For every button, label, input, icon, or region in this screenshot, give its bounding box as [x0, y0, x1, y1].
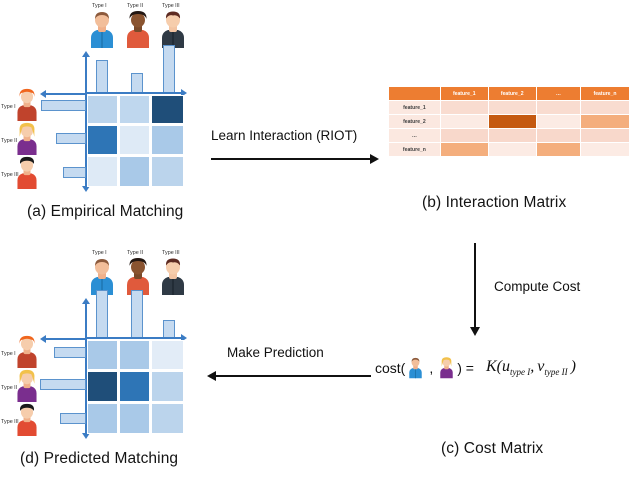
- row-bar-3: [63, 167, 86, 178]
- row-label-type-1: Type I: [1, 104, 16, 110]
- formula-paren-close: ): [571, 358, 576, 375]
- person-icon: [123, 10, 153, 48]
- column-header: …: [537, 87, 580, 100]
- person-icon: [438, 356, 455, 379]
- arrow-head-down-icon: [470, 327, 480, 336]
- table-row: feature_1: [389, 101, 629, 114]
- formula-u-subscript: type I: [510, 367, 530, 377]
- arrow-line: [474, 243, 476, 328]
- formula-avatar-type-2: [438, 356, 455, 379]
- person-icon: [14, 122, 40, 155]
- axis-horizontal-top: [85, 92, 182, 94]
- column-header: feature_2: [489, 87, 536, 100]
- column-avatar-type-1: [87, 10, 117, 48]
- matrix-cell: [151, 125, 184, 155]
- panel-cost-matrix: cost( , ) = K(utype I,vtype II) (c) Cost…: [375, 350, 640, 465]
- matrix-cell: [151, 340, 184, 370]
- matrix-cell: [87, 156, 118, 187]
- column-bar-3: [163, 45, 175, 93]
- table-header-row: feature_1 feature_2 … feature_n: [389, 87, 629, 100]
- matrix-cell: [581, 115, 629, 128]
- corner-cell: [389, 87, 440, 100]
- panel-caption-c: (c) Cost Matrix: [441, 440, 543, 458]
- table-row: feature_2: [389, 115, 629, 128]
- column-label-type-3: Type III: [162, 250, 180, 256]
- cost-formula: cost( , ) = K(utype I,vtype II): [375, 356, 576, 379]
- matrix-cell: [441, 115, 488, 128]
- row-label-type-2: Type II: [1, 138, 17, 144]
- row-bar-3: [60, 413, 86, 424]
- column-label-type-2: Type II: [127, 3, 143, 9]
- matrix-cell: [581, 101, 629, 114]
- matrix-cell: [537, 115, 580, 128]
- matrix-cell: [441, 129, 488, 142]
- row-avatar-type-1: [14, 88, 40, 121]
- row-avatar-type-2: [14, 122, 40, 155]
- matrix-cell: [119, 156, 150, 187]
- interaction-matrix-table: feature_1 feature_2 … feature_n feature_…: [388, 86, 630, 157]
- formula-kernel-symbol: K: [486, 358, 497, 375]
- matrix-cell: [87, 403, 118, 434]
- panel-empirical-matching: Type I Type II Type III: [0, 0, 215, 230]
- row-bar-1: [41, 100, 86, 111]
- formula-u-symbol: u: [502, 358, 510, 375]
- panel-caption-d: (d) Predicted Matching: [20, 450, 178, 468]
- row-bar-2: [40, 379, 86, 390]
- row-label-type-2: Type II: [1, 385, 17, 391]
- column-avatar-type-3: [158, 10, 188, 48]
- matrix-cell: [441, 101, 488, 114]
- arrow-make-prediction: Make Prediction: [203, 345, 388, 385]
- panel-caption-b: (b) Interaction Matrix: [422, 194, 566, 212]
- formula-v-subscript: type II: [544, 367, 567, 377]
- table-row: …: [389, 129, 629, 142]
- column-bar-2: [131, 290, 143, 338]
- column-avatar-type-3: [158, 257, 188, 295]
- row-avatar-type-2: [14, 369, 40, 402]
- axis-arrow-up: [82, 298, 90, 304]
- arrow-line: [216, 375, 371, 377]
- panel-caption-a: (a) Empirical Matching: [27, 203, 183, 221]
- column-label-type-3: Type III: [162, 3, 180, 9]
- matrix-cell: [119, 125, 150, 155]
- row-header: …: [389, 129, 440, 142]
- axis-horizontal-left: [45, 93, 87, 95]
- formula-kernel: K(utype I,vtype II): [486, 358, 576, 377]
- column-header: feature_1: [441, 87, 488, 100]
- matrix-cell: [151, 156, 184, 187]
- arrow-learn-interaction: Learn Interaction (RIOT): [207, 128, 387, 168]
- panel-predicted-matching: Type I Type II Type III: [0, 245, 215, 477]
- person-icon: [407, 356, 424, 379]
- row-header: feature_1: [389, 101, 440, 114]
- column-label-type-1: Type I: [92, 250, 107, 256]
- matrix-cell: [581, 129, 629, 142]
- axis-arrow-left: [40, 90, 46, 98]
- matrix-cell: [87, 95, 118, 124]
- matrix-cell: [151, 95, 184, 124]
- arrow-label-make-prediction: Make Prediction: [227, 345, 324, 360]
- axis-horizontal-left: [45, 338, 87, 340]
- person-icon: [158, 257, 188, 295]
- row-avatar-type-1: [14, 335, 40, 368]
- person-icon: [14, 335, 40, 368]
- axis-vertical-top: [85, 56, 87, 94]
- matrix-cell: [489, 115, 536, 128]
- person-icon: [14, 369, 40, 402]
- axis-arrow-left: [40, 335, 46, 343]
- matrix-cell: [537, 129, 580, 142]
- arrow-head-right-icon: [370, 154, 379, 164]
- axis-horizontal-top: [85, 337, 182, 339]
- table-row: feature_n: [389, 143, 629, 156]
- row-label-type-3: Type III: [1, 172, 19, 178]
- column-bar-1: [96, 60, 108, 93]
- column-bar-3: [163, 320, 175, 338]
- column-label-type-2: Type II: [127, 250, 143, 256]
- column-header: feature_n: [581, 87, 629, 100]
- row-label-type-1: Type I: [1, 351, 16, 357]
- arrow-line: [211, 158, 371, 160]
- matrix-cell: [87, 125, 118, 155]
- matrix-cell: [119, 371, 150, 402]
- arrow-compute-cost: Compute Cost: [468, 243, 618, 343]
- formula-comma: ,: [429, 360, 433, 376]
- person-icon: [87, 10, 117, 48]
- formula-close-equals: ) =: [457, 360, 474, 376]
- column-bar-1: [96, 290, 108, 338]
- formula-avatar-type-1: [407, 356, 424, 379]
- matrix-cell: [537, 143, 580, 156]
- row-label-type-3: Type III: [1, 419, 19, 425]
- axis-vertical-top: [85, 303, 87, 339]
- matrix-cell: [489, 129, 536, 142]
- axis-arrow-up: [82, 51, 90, 57]
- person-icon: [158, 10, 188, 48]
- row-bar-1: [54, 347, 86, 358]
- row-bar-2: [56, 133, 86, 144]
- matrix-cell: [119, 95, 150, 124]
- matrix-cell: [119, 340, 150, 370]
- panel-interaction-matrix: feature_1 feature_2 … feature_n feature_…: [388, 86, 638, 211]
- matrix-cell: [151, 403, 184, 434]
- matrix-cell: [441, 143, 488, 156]
- arrow-label-learn-interaction: Learn Interaction (RIOT): [211, 128, 357, 143]
- column-label-type-1: Type I: [92, 3, 107, 9]
- arrow-label-compute-cost: Compute Cost: [494, 279, 580, 294]
- matrix-cell: [537, 101, 580, 114]
- matrix-cell: [151, 371, 184, 402]
- row-header: feature_n: [389, 143, 440, 156]
- matrix-cell: [489, 143, 536, 156]
- column-bar-2: [131, 73, 143, 93]
- matrix-cell: [119, 403, 150, 434]
- person-icon: [14, 88, 40, 121]
- formula-separator: ,: [530, 358, 534, 375]
- matrix-cell: [87, 340, 118, 370]
- matrix-cell: [87, 371, 118, 402]
- column-avatar-type-2: [123, 10, 153, 48]
- matrix-cell: [581, 143, 629, 156]
- matrix-cell: [489, 101, 536, 114]
- row-header: feature_2: [389, 115, 440, 128]
